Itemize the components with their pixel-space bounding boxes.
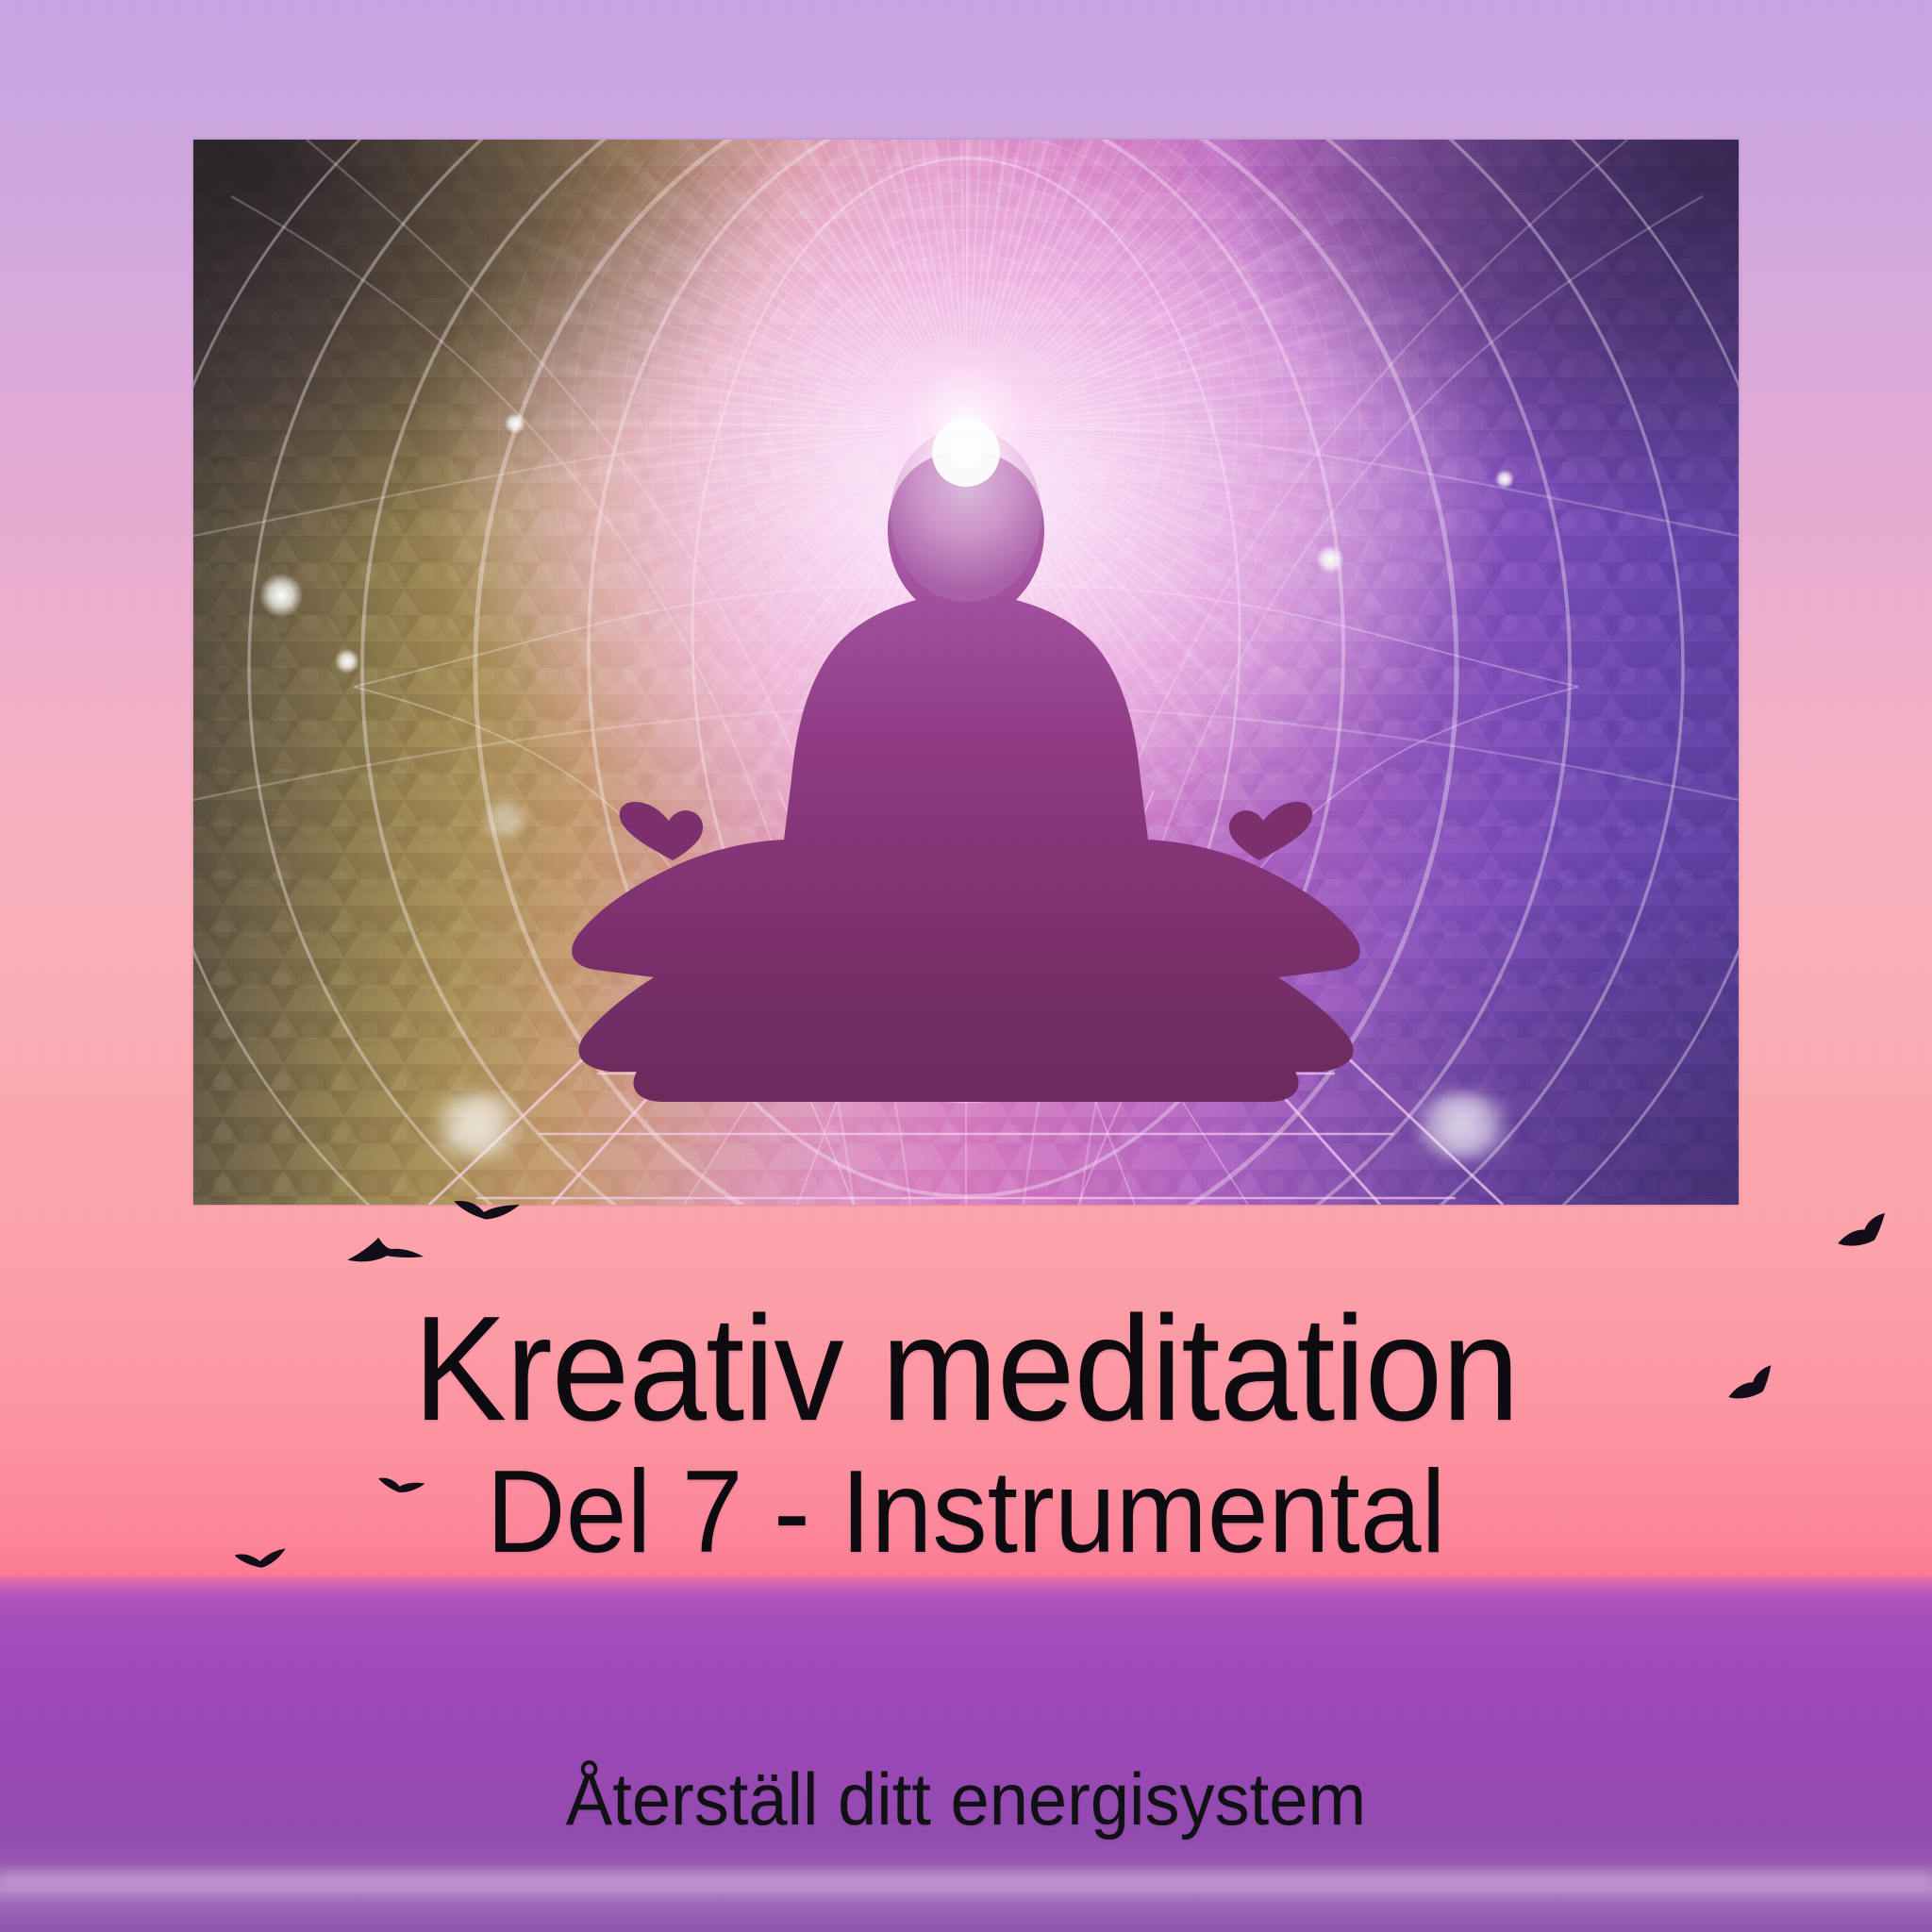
title-block: Kreativ meditation Del 7 - Instrumental xyxy=(0,1294,1932,1572)
sparkle-cluster-left3 xyxy=(505,413,525,434)
poster-title: Kreativ meditation xyxy=(58,1294,1874,1443)
poster-subtitle: Del 7 - Instrumental xyxy=(58,1453,1874,1572)
sparkle-cluster-left2 xyxy=(335,649,359,674)
lotus-meditation-silhouette-icon xyxy=(193,140,1739,1205)
sparkle-cluster-right xyxy=(1316,545,1344,574)
poster-root: Kreativ meditation Del 7 - Instrumental … xyxy=(0,0,1932,1932)
poster-tagline: Återställ ditt energisystem xyxy=(48,1757,1884,1842)
sparkle-cluster-right2 xyxy=(1495,470,1514,489)
sparkle-cluster-mid xyxy=(476,800,533,838)
sea-horizon-band xyxy=(0,1574,1932,1932)
bird-silhouette-1 xyxy=(342,1223,426,1283)
sparkle-cluster-bottom-right xyxy=(1401,1092,1524,1158)
sparkle-cluster-left xyxy=(259,574,303,617)
sparkle-cluster-bottom-left xyxy=(420,1092,533,1158)
artwork-panel xyxy=(193,140,1739,1205)
